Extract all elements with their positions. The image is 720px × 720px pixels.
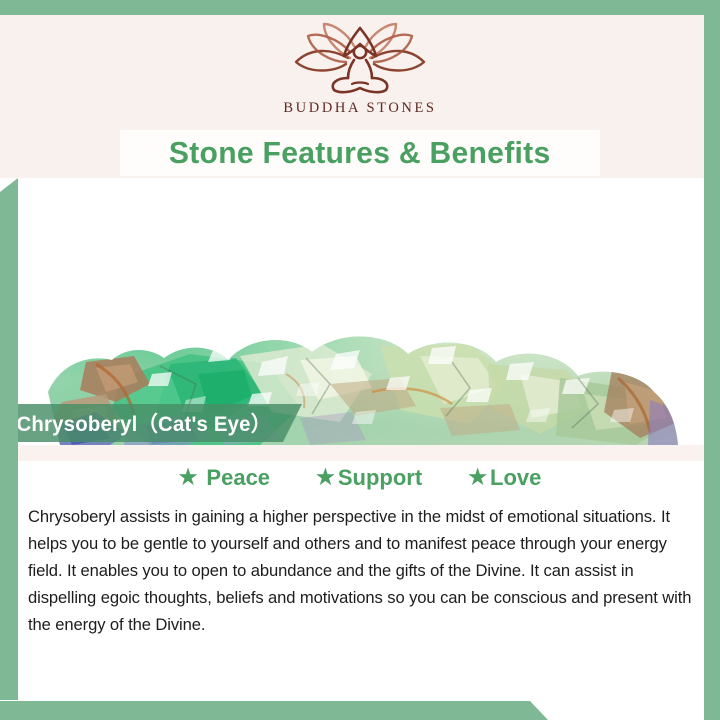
frame-bottom-bar (0, 701, 548, 720)
star-icon: ★ (179, 467, 198, 488)
brand-wordmark: BUDDHA STONES (283, 100, 436, 117)
title-band: Stone Features & Benefits (120, 130, 600, 176)
benefits-row: ★ Peace ★ Support ★ Love (0, 465, 720, 491)
stone-info-card: BUDDHA STONES (0, 0, 720, 720)
benefit-love: ★ Love (468, 465, 541, 491)
content-top-tint (0, 445, 720, 461)
benefit-label-peace: Peace (206, 465, 270, 491)
lotus-meditation-figure-icon (286, 22, 434, 94)
brand-logo: BUDDHA STONES (0, 22, 720, 117)
star-icon: ★ (468, 467, 487, 488)
stone-name-banner: Chrysoberyl（Cat's Eye） (0, 404, 302, 442)
benefit-label-love: Love (490, 465, 541, 491)
stone-description: Chrysoberyl assists in gaining a higher … (28, 503, 696, 638)
frame-left-bar (0, 178, 18, 700)
star-icon: ★ (316, 467, 335, 488)
frame-top-bar (0, 0, 720, 15)
benefit-label-support: Support (338, 465, 422, 491)
page-title: Stone Features & Benefits (169, 135, 551, 171)
benefit-support: ★ Support (316, 465, 422, 491)
frame-right-bar (704, 0, 720, 720)
stone-name-label: Chrysoberyl（Cat's Eye） (0, 408, 271, 438)
content-section: ★ Peace ★ Support ★ Love Chrysoberyl ass… (0, 445, 720, 720)
benefit-peace: ★ Peace (179, 465, 270, 491)
